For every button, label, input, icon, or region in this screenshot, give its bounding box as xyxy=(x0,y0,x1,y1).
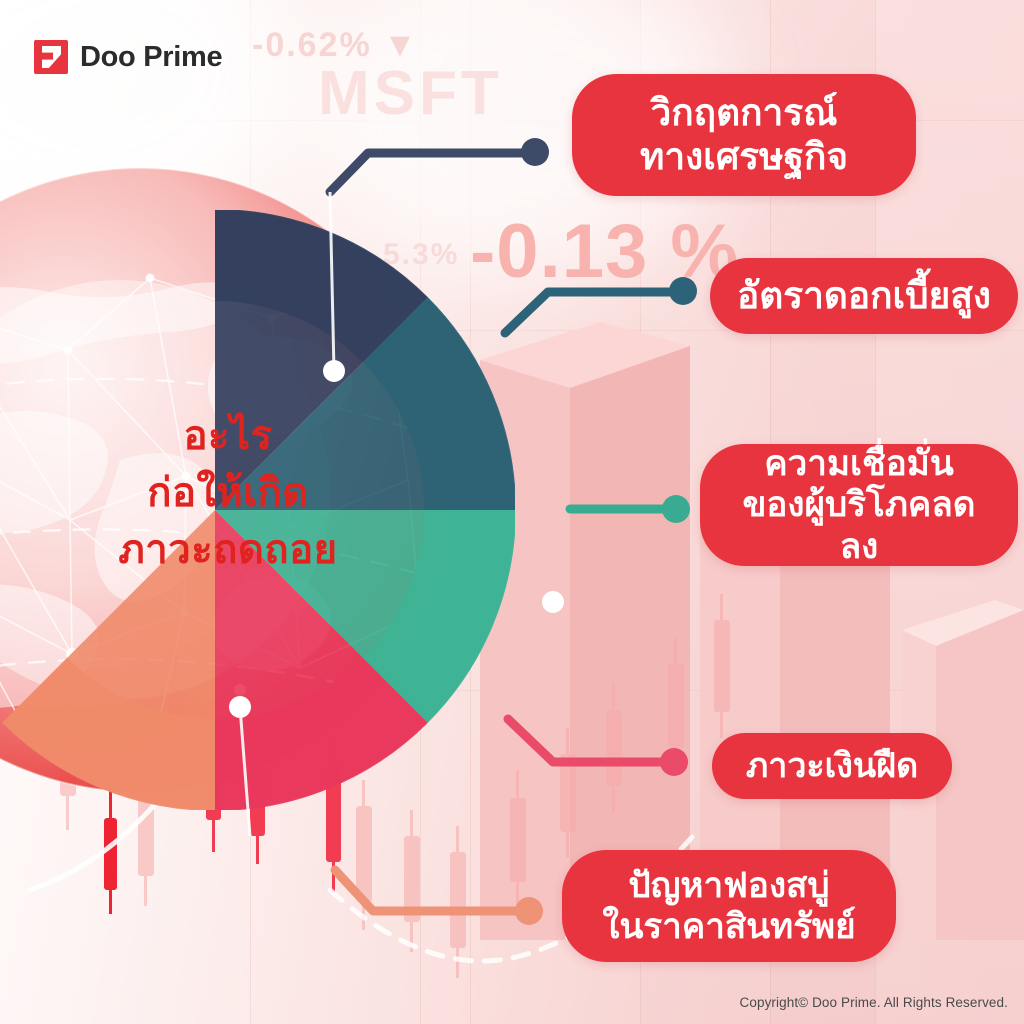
callout-connectors xyxy=(0,0,1024,1024)
connector-deflation xyxy=(508,719,688,776)
connector-economic-crisis xyxy=(330,138,549,192)
connector-asset-price-bubble xyxy=(335,870,543,925)
connector-high-interest-rates xyxy=(505,277,697,333)
connector-consumer-confidence xyxy=(570,495,690,523)
donut-anchor-dots xyxy=(229,360,564,718)
donut-leader-lines xyxy=(240,192,334,836)
infographic-canvas: -0.62% ▼ MSFT 5.3% -0.13 % xyxy=(0,0,1024,1024)
